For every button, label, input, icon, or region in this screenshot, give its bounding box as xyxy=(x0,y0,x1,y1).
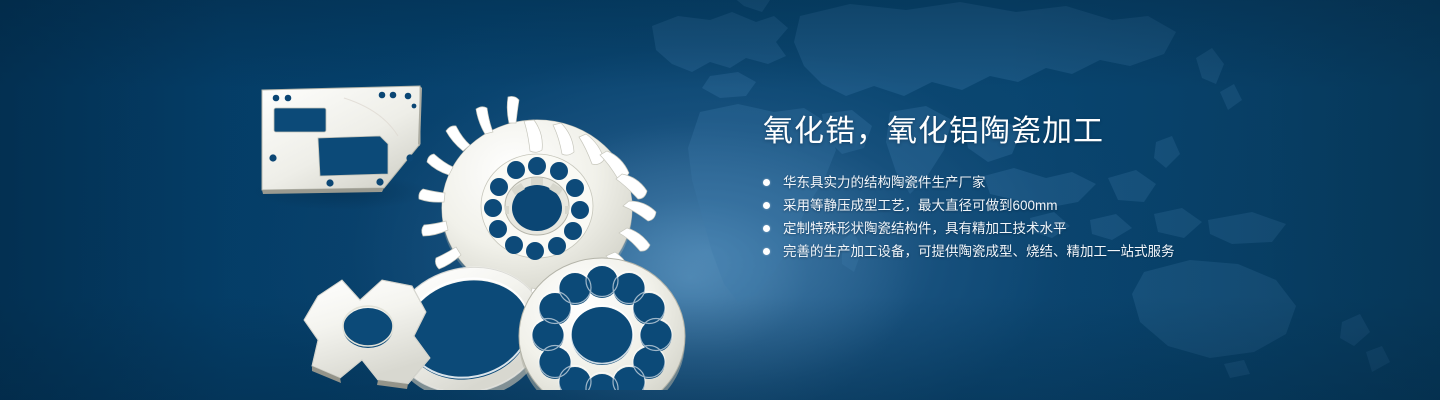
ceramic-products-image xyxy=(232,40,702,390)
hero-banner: 氧化锆，氧化铝陶瓷加工 华东具实力的结构陶瓷件生产厂家 采用等静压成型工艺，最大… xyxy=(0,0,1440,400)
list-item: 华东具实力的结构陶瓷件生产厂家 xyxy=(763,171,1323,194)
list-item-label: 完善的生产加工设备，可提供陶瓷成型、烧结、精加工一站式服务 xyxy=(783,240,1175,263)
ceramic-machined-plate xyxy=(262,86,422,194)
bullet-dot-icon xyxy=(763,225,770,232)
feature-list: 华东具实力的结构陶瓷件生产厂家 采用等静压成型工艺，最大直径可做到600mm 定… xyxy=(763,171,1323,263)
list-item: 采用等静压成型工艺，最大直径可做到600mm xyxy=(763,194,1323,217)
list-item-label: 华东具实力的结构陶瓷件生产厂家 xyxy=(783,171,986,194)
list-item: 完善的生产加工设备，可提供陶瓷成型、烧结、精加工一站式服务 xyxy=(763,240,1323,263)
bullet-dot-icon xyxy=(763,179,770,186)
bullet-dot-icon xyxy=(763,248,770,255)
ceramic-star-plate xyxy=(304,280,430,389)
banner-headline: 氧化锆，氧化铝陶瓷加工 xyxy=(763,112,1323,152)
bullet-dot-icon xyxy=(763,202,770,209)
list-item-label: 采用等静压成型工艺，最大直径可做到600mm xyxy=(783,194,1058,217)
list-item-label: 定制特殊形状陶瓷结构件，具有精加工技术水平 xyxy=(783,217,1067,240)
list-item: 定制特殊形状陶瓷结构件，具有精加工技术水平 xyxy=(763,217,1323,240)
banner-text-column: 氧化锆，氧化铝陶瓷加工 华东具实力的结构陶瓷件生产厂家 采用等静压成型工艺，最大… xyxy=(763,112,1323,263)
